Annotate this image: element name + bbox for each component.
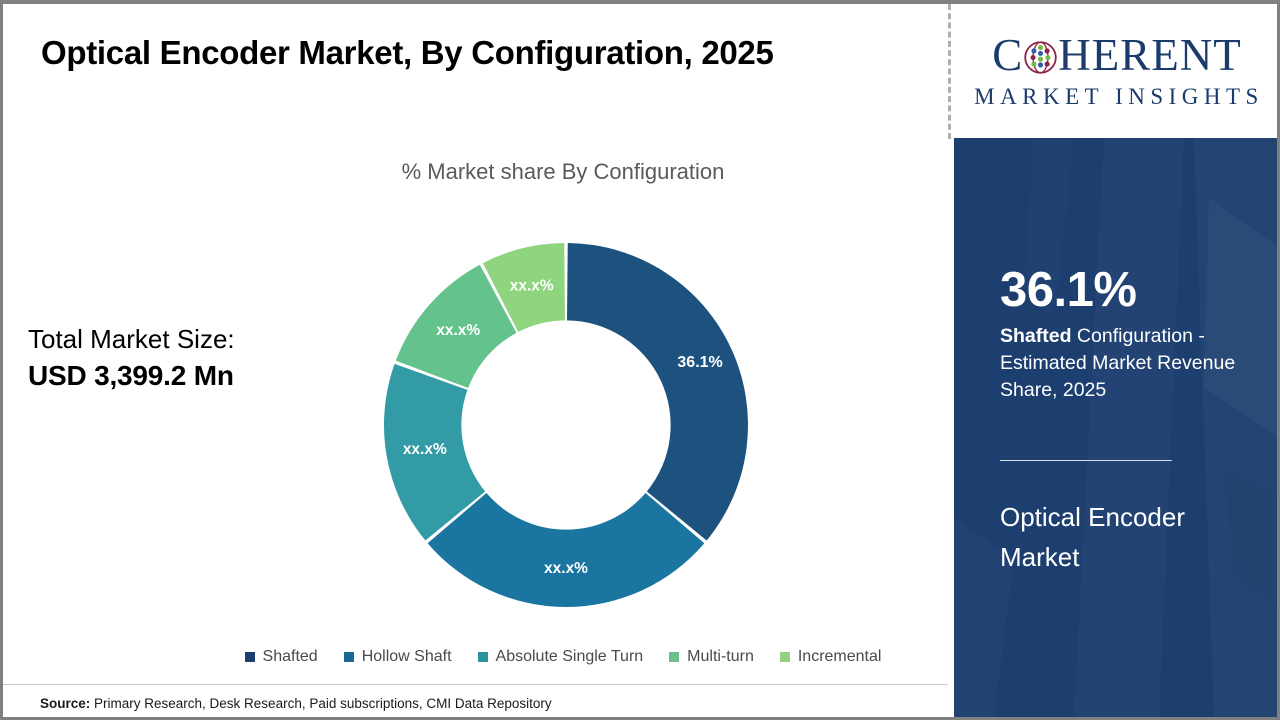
legend-swatch	[669, 652, 679, 662]
donut-slice[interactable]	[567, 243, 748, 541]
donut-slice-label: xx.x%	[544, 560, 588, 577]
sidebar-divider-rule	[1000, 460, 1172, 461]
stat-description-bold: Shafted	[1000, 325, 1072, 347]
legend-swatch	[245, 652, 255, 662]
legend-item[interactable]: Absolute Single Turn	[478, 648, 644, 666]
donut-slices	[384, 243, 748, 607]
sidebar-market-name: Optical Encoder Market	[1000, 498, 1235, 577]
source-text: Primary Research, Desk Research, Paid su…	[90, 696, 551, 711]
logo-wordmark: C HERENT	[992, 33, 1242, 78]
market-size-value: USD 3,399.2 Mn	[28, 358, 358, 395]
legend-label: Hollow Shaft	[362, 648, 452, 666]
legend-item[interactable]: Hollow Shaft	[344, 648, 452, 666]
donut-slice-label: 36.1%	[677, 354, 722, 371]
legend-item[interactable]: Shafted	[245, 648, 318, 666]
legend-swatch	[780, 652, 790, 662]
page-title: Optical Encoder Market, By Configuration…	[41, 34, 774, 72]
infographic-frame: Optical Encoder Market, By Configuration…	[0, 0, 1280, 720]
legend-label: Shafted	[263, 648, 318, 666]
donut-chart: 36.1%xx.x%xx.x%xx.x%xx.x%	[373, 232, 759, 618]
highlight-sidebar: 36.1% Shafted Configuration - Estimated …	[954, 138, 1280, 718]
donut-slice-label: xx.x%	[510, 277, 554, 294]
chart-panel: Optical Encoder Market, By Configuration…	[3, 4, 948, 718]
vertical-dashed-divider	[948, 4, 951, 139]
source-note: Source: Primary Research, Desk Research,…	[40, 696, 552, 711]
globe-icon	[1024, 41, 1057, 74]
legend-label: Absolute Single Turn	[496, 648, 644, 666]
logo-text-herent: HERENT	[1058, 33, 1241, 78]
stat-percentage: 36.1%	[1000, 266, 1136, 315]
logo-subtitle: MARKET INSIGHTS	[970, 84, 1264, 110]
stat-description: Shafted Configuration - Estimated Market…	[1000, 323, 1245, 404]
donut-chart-svg: 36.1%xx.x%xx.x%xx.x%xx.x%	[373, 232, 759, 618]
sidebar-content: 36.1% Shafted Configuration - Estimated …	[1000, 138, 1260, 718]
market-size-label: Total Market Size:	[28, 322, 358, 358]
legend-item[interactable]: Multi-turn	[669, 648, 754, 666]
legend-label: Incremental	[798, 648, 882, 666]
legend-label: Multi-turn	[687, 648, 754, 666]
logo-text-c: C	[992, 33, 1023, 78]
total-market-size: Total Market Size: USD 3,399.2 Mn	[28, 322, 358, 395]
source-divider	[3, 684, 948, 685]
legend-swatch	[344, 652, 354, 662]
legend-swatch	[478, 652, 488, 662]
source-label: Source:	[40, 696, 90, 711]
donut-slice[interactable]	[428, 493, 705, 607]
donut-slice-label: xx.x%	[403, 441, 447, 458]
donut-slice-label: xx.x%	[436, 322, 480, 339]
legend-item[interactable]: Incremental	[780, 648, 882, 666]
brand-logo: C HERENT MARKET INSIGHTS	[954, 4, 1280, 138]
